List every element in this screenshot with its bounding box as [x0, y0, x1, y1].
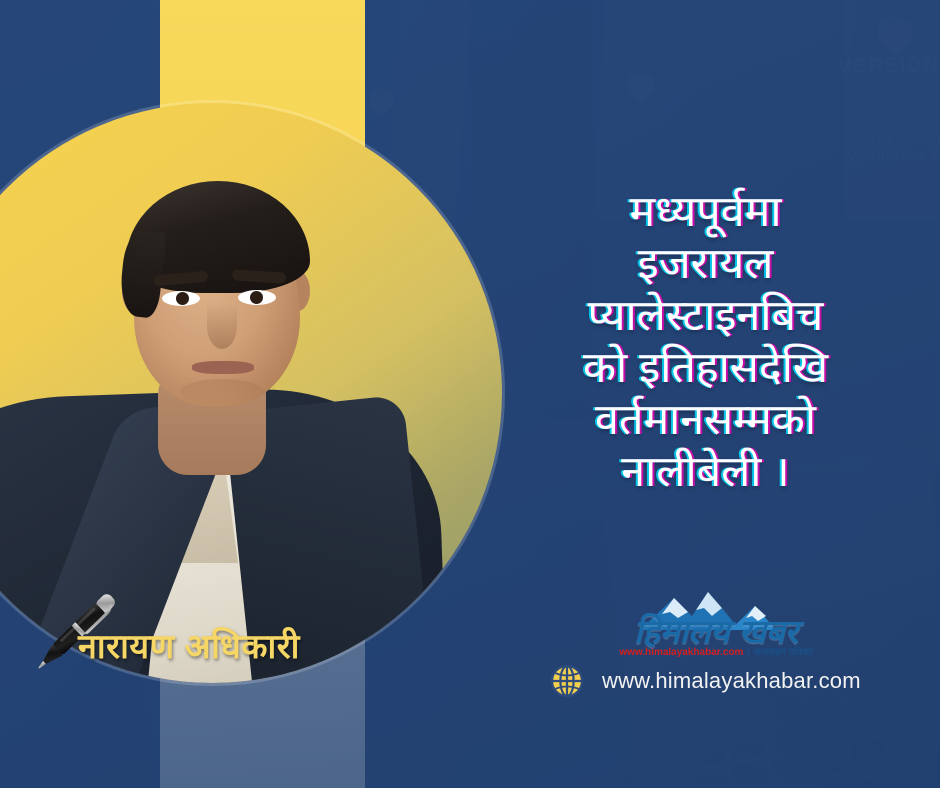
nose — [207, 303, 237, 349]
globe-icon — [550, 664, 584, 698]
brand-logo[interactable]: हिमालय खबर www.himalayakhabar.com । अनला… — [600, 592, 832, 664]
headline-line-6: नालीबेली । — [478, 446, 933, 498]
pupil-right — [250, 291, 263, 304]
brand-tagline: www.himalayakhabar.com । अनलाइन पत्रिका — [600, 644, 832, 658]
brand-tagline-separator: । — [746, 647, 750, 658]
headline-line-3: प्यालेस्टाइनबिच — [478, 290, 933, 342]
avatar — [0, 103, 502, 683]
page-title: मध्यपूर्वमा इजरायल प्यालेस्टाइनबिच को इत… — [478, 186, 933, 498]
portrait-illustration — [0, 103, 502, 683]
chin — [180, 379, 264, 405]
website-row[interactable]: www.himalayakhabar.com — [550, 664, 861, 698]
website-url: www.himalayakhabar.com — [602, 668, 861, 694]
pupil-left — [176, 292, 189, 305]
headline-line-5: वर्तमानसम्मको — [478, 394, 933, 446]
headline-line-2: इजरायल — [478, 238, 933, 290]
brand-tagline-url: www.himalayakhabar.com — [619, 647, 743, 658]
headline-line-1: मध्यपूर्वमा — [478, 186, 933, 238]
mouth — [192, 361, 254, 374]
brand-tagline-nepali: अनलाइन पत्रिका — [753, 647, 813, 658]
author-name: नारायण अधिकारी — [78, 622, 300, 668]
news-graphic-card: VERSION 2 The Smartest WordPress Theme. — [0, 0, 940, 788]
headline-line-4: को इतिहासदेखि — [478, 342, 933, 394]
